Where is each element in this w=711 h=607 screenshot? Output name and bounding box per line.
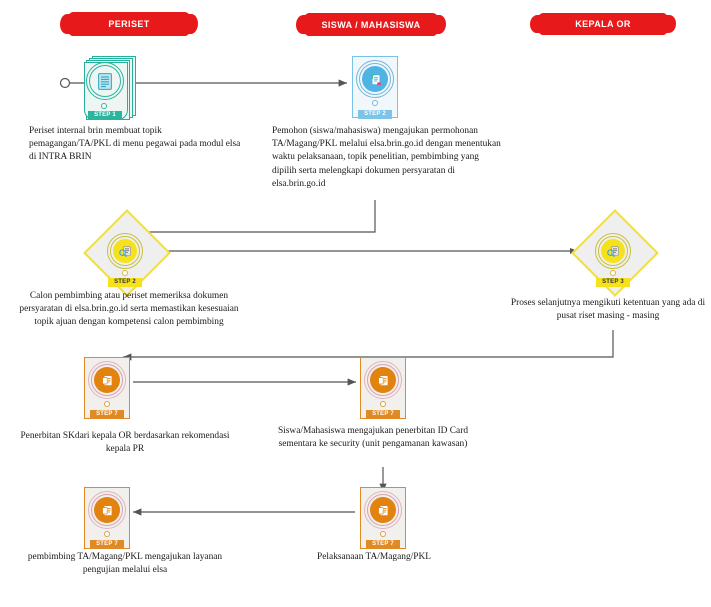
node-4-caption: Proses selanjutnya mengikuti ketentuan y… xyxy=(508,297,708,323)
lane-banner-kepala-or-label: KEPALA OR xyxy=(575,19,631,29)
certificate-icon xyxy=(94,497,120,523)
upload-document-icon xyxy=(362,66,388,92)
node-6-icon-rings xyxy=(364,361,402,399)
certificate-icon xyxy=(370,367,396,393)
node-7-icon-rings xyxy=(364,491,402,529)
node-3-icon-rings xyxy=(107,233,143,269)
node-4-icon-rings xyxy=(595,233,631,269)
document-icon xyxy=(94,70,116,92)
node-6-caption: Siswa/Mahasiswa mengajukan penerbitan ID… xyxy=(262,425,484,451)
lane-banner-periset-label: PERISET xyxy=(108,19,149,29)
review-search-icon xyxy=(113,239,137,263)
node-8-caption: pembimbing TA/Magang/PKL mengajukan laya… xyxy=(17,551,233,577)
connector-4-5 xyxy=(123,330,613,357)
node-1-pin xyxy=(101,103,107,109)
review-search-icon xyxy=(601,239,625,263)
node-4-pin xyxy=(610,270,616,276)
node-4-step-tag: STEP 3 xyxy=(596,278,630,287)
lane-banner-periset: PERISET xyxy=(69,12,189,36)
node-7-pin xyxy=(380,531,386,537)
node-8-pin xyxy=(104,531,110,537)
node-3-caption: Calon pembimbing atau periset memeriksa … xyxy=(18,290,240,330)
node-1-step-tag: STEP 1 xyxy=(88,111,122,120)
node-7-step-tag: STEP 7 xyxy=(366,540,400,549)
node-5-pin xyxy=(104,401,110,407)
node-2-step-tag: STEP 2 xyxy=(358,110,392,119)
lane-banner-siswa: SISWA / MAHASISWA xyxy=(305,13,437,36)
node-1-icon-rings xyxy=(86,62,124,100)
node-6-step-tag: STEP 7 xyxy=(366,410,400,419)
node-2-pin xyxy=(372,100,378,106)
certificate-icon xyxy=(370,497,396,523)
node-7-caption: Pelaksanaan TA/Magang/PKL xyxy=(288,551,460,564)
node-8-icon-rings xyxy=(88,491,126,529)
flowchart-canvas: PERISET SISWA / MAHASISWA KEPALA OR xyxy=(0,0,711,607)
node-6-pin xyxy=(380,401,386,407)
node-5-step-tag: STEP 7 xyxy=(90,410,124,419)
lane-banner-kepala-or: KEPALA OR xyxy=(539,13,667,35)
node-5-caption: Penerbitan SKdari kepala OR berdasarkan … xyxy=(17,430,233,456)
node-3-step-tag: STEP 2 xyxy=(108,278,142,287)
start-anchor-dot xyxy=(61,79,70,88)
lane-banner-siswa-label: SISWA / MAHASISWA xyxy=(322,20,421,30)
certificate-icon xyxy=(94,367,120,393)
node-3-pin xyxy=(122,270,128,276)
node-1-caption: Periset internal brin membuat topik pema… xyxy=(29,125,244,165)
node-5-icon-rings xyxy=(88,361,126,399)
node-8-step-tag: STEP 7 xyxy=(90,540,124,549)
connector-2-3 xyxy=(137,200,375,232)
node-2-caption: Pemohon (siswa/mahasiswa) mengajukan per… xyxy=(272,125,502,191)
node-2-icon-rings xyxy=(356,60,394,98)
